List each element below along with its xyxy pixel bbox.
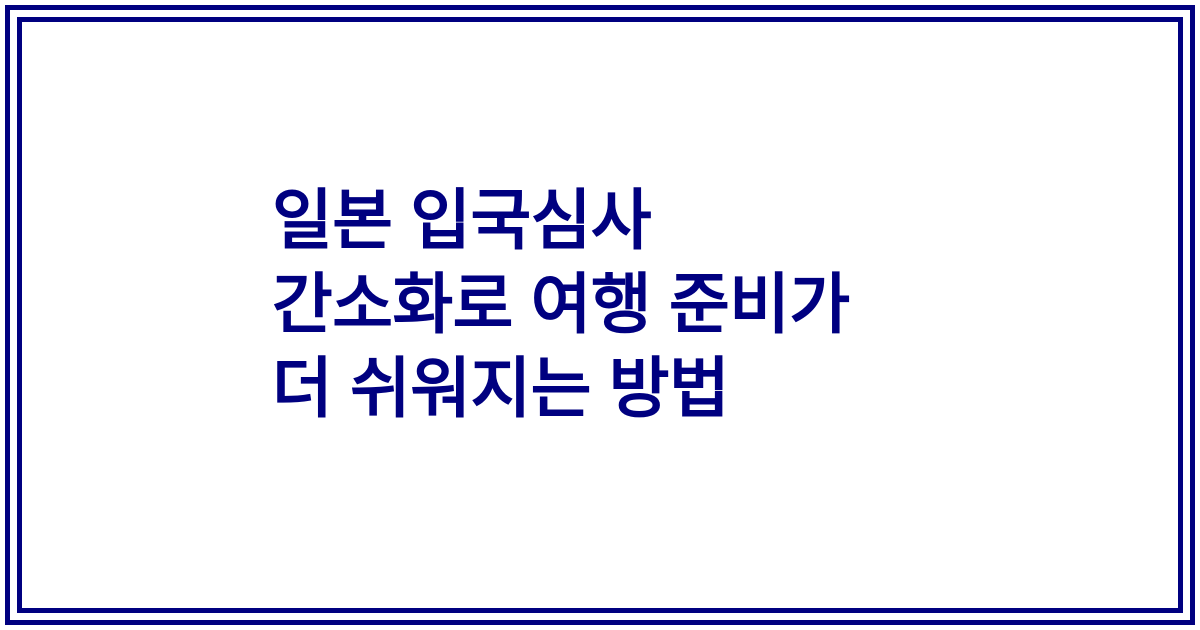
page-title: 일본 입국심사 간소화로 여행 준비가 더 쉬워지는 방법 [272, 178, 1132, 430]
title-line-1: 일본 입국심사 [272, 178, 1132, 262]
title-card: 일본 입국심사 간소화로 여행 준비가 더 쉬워지는 방법 [0, 0, 1200, 630]
title-line-3: 더 쉬워지는 방법 [272, 346, 1132, 430]
title-line-2: 간소화로 여행 준비가 [272, 262, 1132, 346]
